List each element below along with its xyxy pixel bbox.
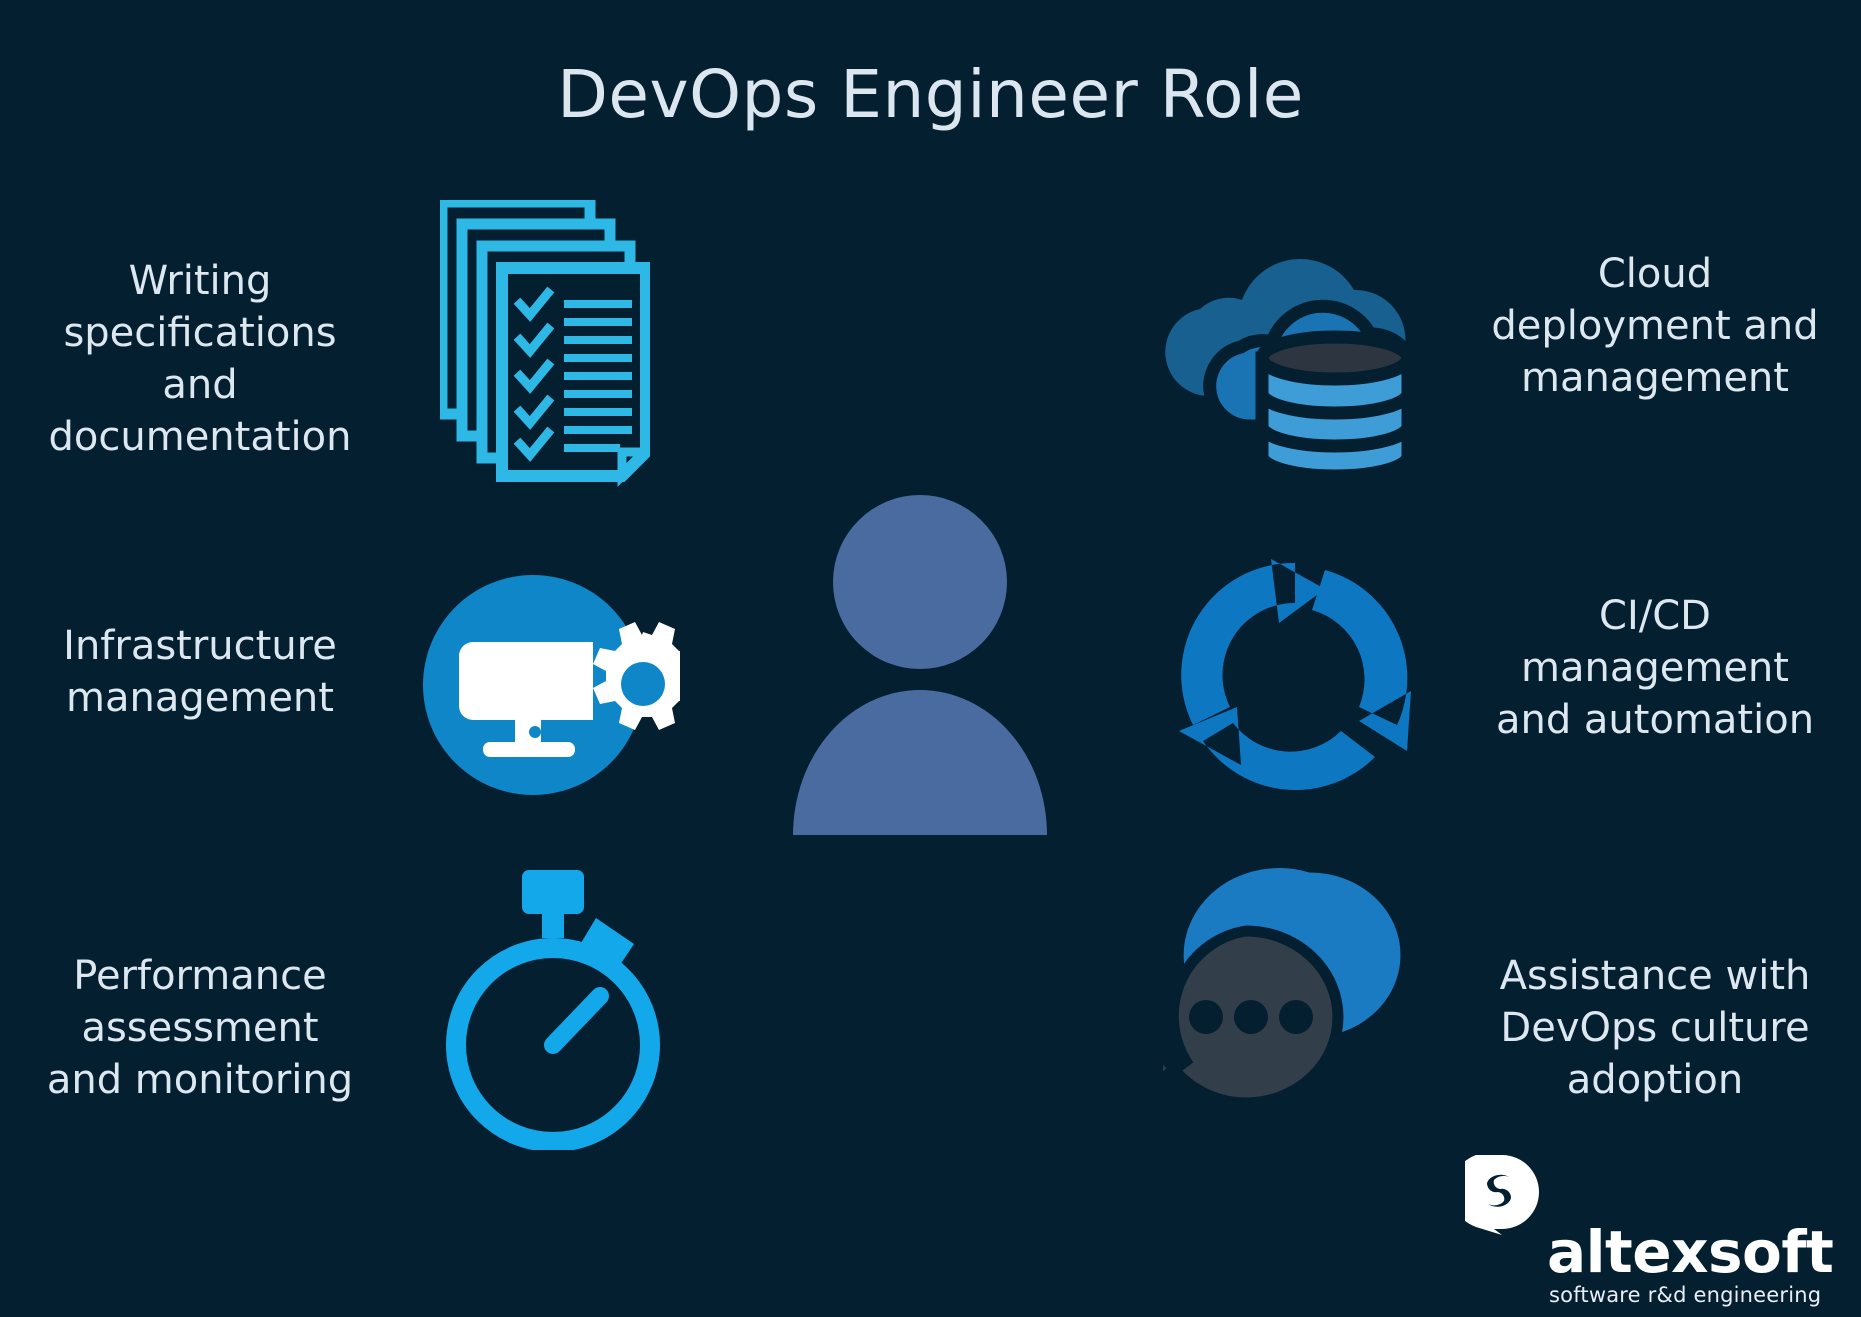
logo-tagline: software r&d engineering bbox=[1549, 1283, 1821, 1307]
label-writing-specifications-and-documentation: Writing specifications and documentation bbox=[20, 255, 380, 463]
cycle-arrows-icon bbox=[1175, 555, 1415, 800]
label-cicd-management-and-automation: CI/CD management and automation bbox=[1465, 590, 1845, 746]
altexsoft-logo-mark bbox=[1465, 1155, 1539, 1235]
person-icon bbox=[785, 495, 1055, 835]
label-assistance-with-devops-culture-adoption: Assistance with DevOps culture adoption bbox=[1465, 950, 1845, 1106]
infographic-canvas: DevOps Engineer Role Writing specificati… bbox=[0, 0, 1861, 1317]
logo-wordmark: altexsoft bbox=[1547, 1223, 1833, 1281]
cloud-database-icon bbox=[1150, 230, 1420, 480]
label-infrastructure-management: Infrastructure management bbox=[20, 620, 380, 724]
altexsoft-logo: altexsoft software r&d engineering bbox=[1465, 1155, 1845, 1310]
page-title: DevOps Engineer Role bbox=[0, 56, 1861, 133]
label-performance-assessment-and-monitoring: Performance assessment and monitoring bbox=[20, 950, 380, 1106]
stopwatch-icon bbox=[440, 870, 670, 1150]
monitor-gear-icon bbox=[415, 560, 680, 810]
label-cloud-deployment-and-management: Cloud deployment and management bbox=[1465, 248, 1845, 404]
documents-checklist-icon bbox=[440, 200, 650, 490]
speech-bubbles-icon bbox=[1150, 865, 1410, 1155]
